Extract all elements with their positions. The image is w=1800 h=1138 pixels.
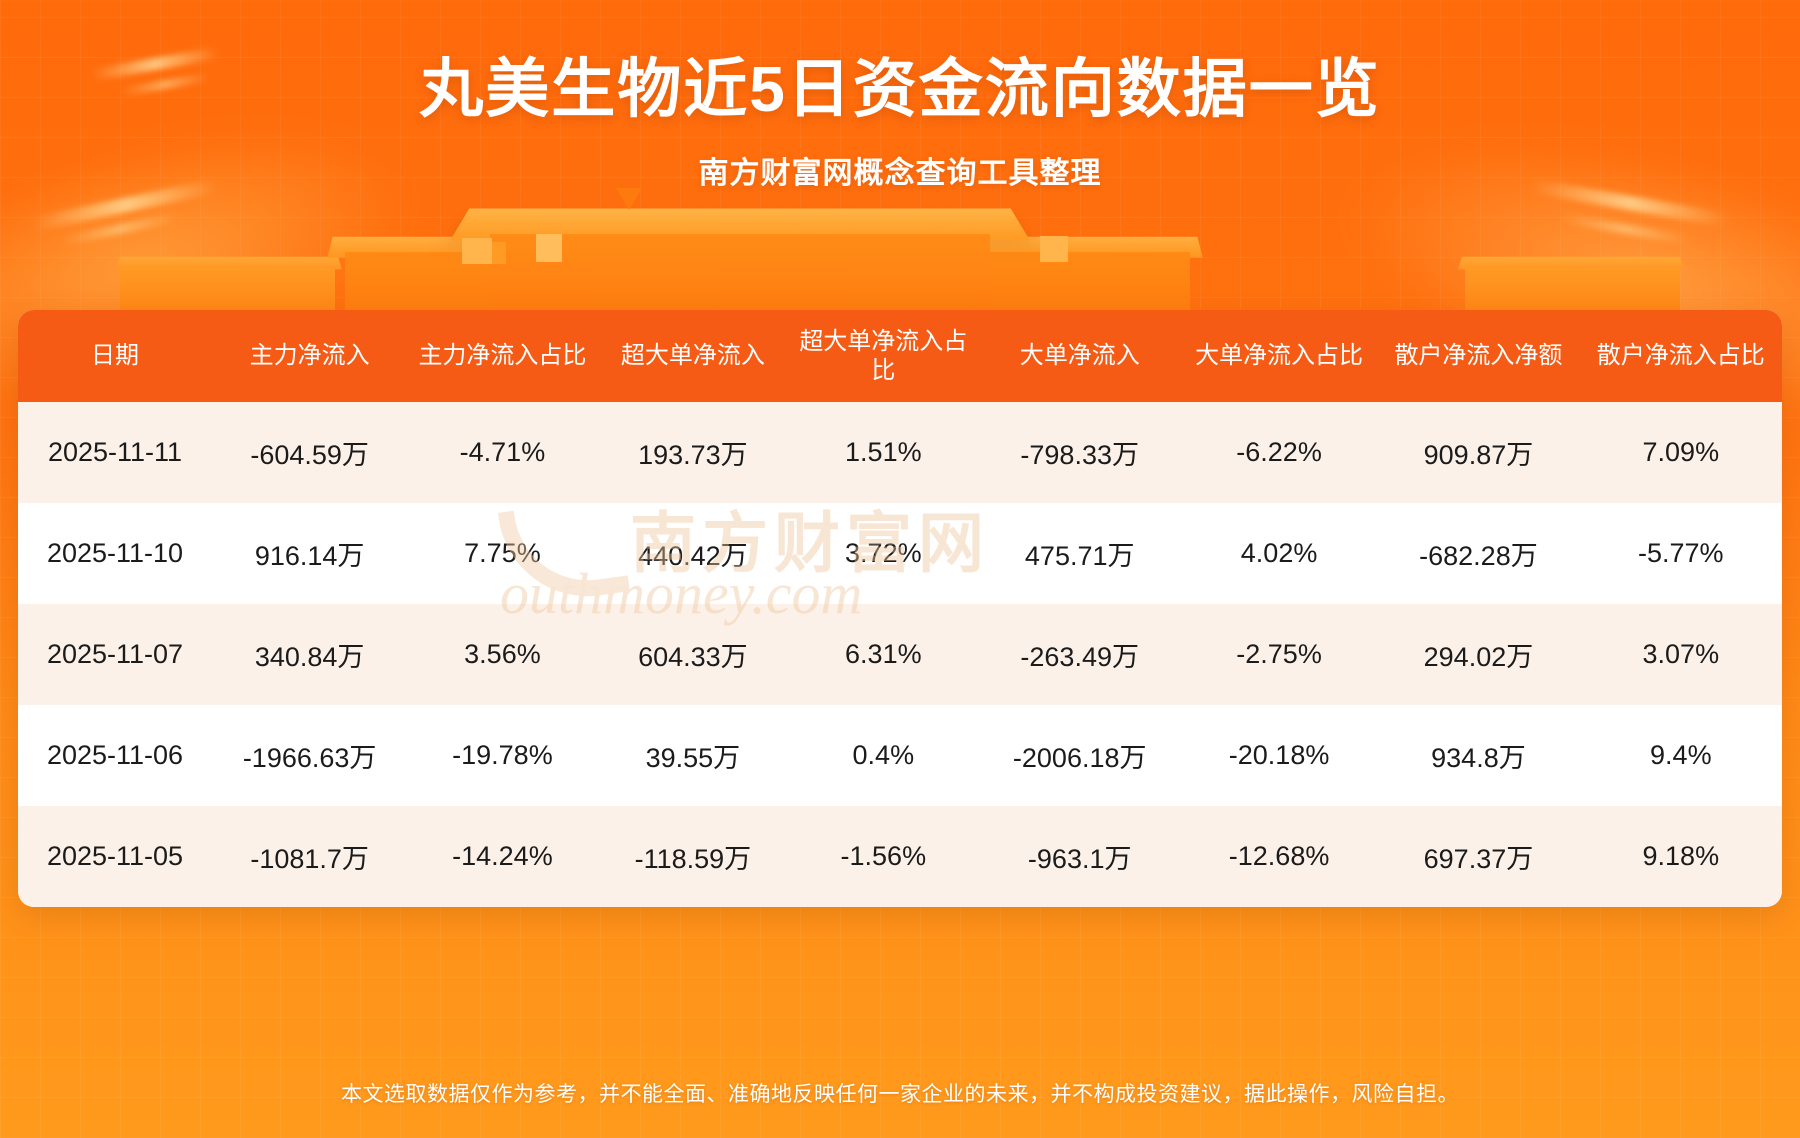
cell-xl-net: -118.59万 bbox=[598, 806, 788, 907]
cell-xl-net: 39.55万 bbox=[598, 705, 788, 806]
podium-block-far-right-top bbox=[1458, 257, 1684, 270]
page-title: 丸美生物近5日资金流向数据一览 bbox=[0, 38, 1800, 130]
cell-lg-net: -2006.18万 bbox=[979, 705, 1181, 806]
cell-main-pct: -14.24% bbox=[407, 806, 597, 907]
cell-xl-net: 440.42万 bbox=[598, 503, 788, 604]
table-header-row: 日期 主力净流入 主力净流入占比 超大单净流入 超大单净流入占比 大单净流入 大… bbox=[18, 310, 1782, 402]
cell-main-net: -1081.7万 bbox=[212, 806, 407, 907]
table-row: 2025-11-10916.14万7.75%440.42万3.72%475.71… bbox=[18, 503, 1782, 604]
cell-xl-pct: 0.4% bbox=[788, 705, 978, 806]
podium-block-left-top bbox=[327, 237, 562, 258]
cell-retail-net: 294.02万 bbox=[1377, 604, 1579, 705]
cell-date: 2025-11-10 bbox=[18, 503, 212, 604]
light-streak-decoration bbox=[60, 212, 179, 247]
cell-main-net: -1966.63万 bbox=[212, 705, 407, 806]
cell-date: 2025-11-06 bbox=[18, 705, 212, 806]
cell-xl-pct: 1.51% bbox=[788, 402, 978, 503]
column-header-date: 日期 bbox=[18, 310, 212, 402]
table-header: 日期 主力净流入 主力净流入占比 超大单净流入 超大单净流入占比 大单净流入 大… bbox=[18, 310, 1782, 402]
cell-date: 2025-11-05 bbox=[18, 806, 212, 907]
cell-date: 2025-11-11 bbox=[18, 402, 212, 503]
cell-main-pct: -4.71% bbox=[407, 402, 597, 503]
cell-retail-pct: 7.09% bbox=[1580, 402, 1782, 503]
cell-lg-pct: -2.75% bbox=[1181, 604, 1377, 705]
podium-block-far-left-top bbox=[116, 257, 342, 270]
cell-retail-net: 697.37万 bbox=[1377, 806, 1579, 907]
cell-xl-pct: 3.72% bbox=[788, 503, 978, 604]
cell-xl-pct: -1.56% bbox=[788, 806, 978, 907]
cell-retail-pct: 3.07% bbox=[1580, 604, 1782, 705]
table-row: 2025-11-07340.84万3.56%604.33万6.31%-263.4… bbox=[18, 604, 1782, 705]
cell-lg-net: -263.49万 bbox=[979, 604, 1181, 705]
page-subtitle: 南方财富网概念查询工具整理 bbox=[0, 148, 1800, 192]
cell-xl-net: 193.73万 bbox=[598, 402, 788, 503]
light-streak-decoration bbox=[1560, 213, 1690, 245]
cell-main-net: -604.59万 bbox=[212, 402, 407, 503]
cell-lg-net: -963.1万 bbox=[979, 806, 1181, 907]
cell-retail-net: -682.28万 bbox=[1377, 503, 1579, 604]
fund-flow-table-card: 日期 主力净流入 主力净流入占比 超大单净流入 超大单净流入占比 大单净流入 大… bbox=[18, 310, 1782, 907]
column-header-main-pct: 主力净流入占比 bbox=[407, 310, 597, 402]
cell-retail-net: 934.8万 bbox=[1377, 705, 1579, 806]
cell-main-net: 340.84万 bbox=[212, 604, 407, 705]
cell-lg-pct: -12.68% bbox=[1181, 806, 1377, 907]
cell-lg-pct: -6.22% bbox=[1181, 402, 1377, 503]
cell-xl-net: 604.33万 bbox=[598, 604, 788, 705]
column-header-xl-net: 超大单净流入 bbox=[598, 310, 788, 402]
podium-block-center-top bbox=[450, 209, 1030, 241]
cell-retail-pct: -5.77% bbox=[1580, 503, 1782, 604]
cell-main-pct: -19.78% bbox=[407, 705, 597, 806]
cell-retail-net: 909.87万 bbox=[1377, 402, 1579, 503]
cell-retail-pct: 9.4% bbox=[1580, 705, 1782, 806]
cell-lg-net: 475.71万 bbox=[979, 503, 1181, 604]
cell-xl-pct: 6.31% bbox=[788, 604, 978, 705]
table-row: 2025-11-06-1966.63万-19.78%39.55万0.4%-200… bbox=[18, 705, 1782, 806]
cell-lg-pct: -20.18% bbox=[1181, 705, 1377, 806]
column-header-retail-net: 散户净流入净额 bbox=[1377, 310, 1579, 402]
column-header-main-net: 主力净流入 bbox=[212, 310, 407, 402]
table-row: 2025-11-05-1081.7万-14.24%-118.59万-1.56%-… bbox=[18, 806, 1782, 907]
column-header-retail-pct: 散户净流入占比 bbox=[1580, 310, 1782, 402]
table-row: 2025-11-11-604.59万-4.71%193.73万1.51%-798… bbox=[18, 402, 1782, 503]
cell-main-pct: 7.75% bbox=[407, 503, 597, 604]
podium-illustration bbox=[0, 190, 1800, 330]
column-header-xl-pct: 超大单净流入占比 bbox=[788, 310, 978, 402]
cell-lg-net: -798.33万 bbox=[979, 402, 1181, 503]
cell-main-pct: 3.56% bbox=[407, 604, 597, 705]
column-header-lg-pct: 大单净流入占比 bbox=[1181, 310, 1377, 402]
column-header-lg-net: 大单净流入 bbox=[979, 310, 1181, 402]
podium-block-right-top bbox=[957, 237, 1202, 258]
cell-retail-pct: 9.18% bbox=[1580, 806, 1782, 907]
fund-flow-table: 日期 主力净流入 主力净流入占比 超大单净流入 超大单净流入占比 大单净流入 大… bbox=[18, 310, 1782, 907]
cell-date: 2025-11-07 bbox=[18, 604, 212, 705]
cell-lg-pct: 4.02% bbox=[1181, 503, 1377, 604]
cell-main-net: 916.14万 bbox=[212, 503, 407, 604]
footer-disclaimer: 本文选取数据仅作为参考，并不能全面、准确地反映任何一家企业的未来，并不构成投资建… bbox=[0, 1078, 1800, 1108]
table-body: 2025-11-11-604.59万-4.71%193.73万1.51%-798… bbox=[18, 402, 1782, 907]
